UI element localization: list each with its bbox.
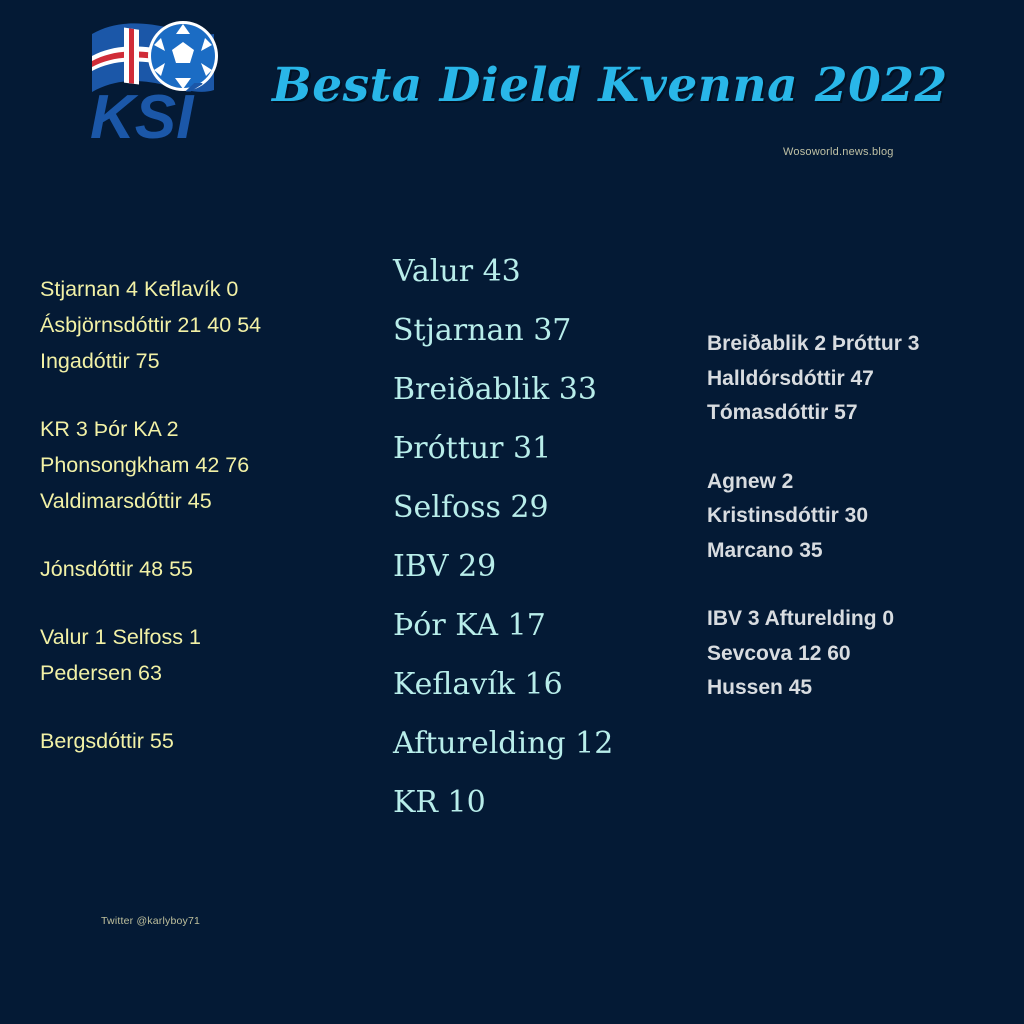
result-line: Tómasdóttir 57 (707, 396, 1007, 431)
result-line: Agnew 2 (707, 465, 1007, 500)
result-line: Valur 1 Selfoss 1 (40, 619, 360, 655)
result-line: Ingadóttir 75 (40, 343, 360, 379)
result-block: Agnew 2 Kristinsdóttir 30 Marcano 35 (707, 465, 1007, 569)
result-line: Kristinsdóttir 30 (707, 499, 1007, 534)
result-line: Bergsdóttir 55 (40, 723, 360, 759)
twitter-credit: Twitter @karlyboy71 (101, 915, 200, 927)
standings-column: Valur 43 Stjarnan 37 Breiðablik 33 Þrótt… (393, 242, 683, 832)
results-column-left: Stjarnan 4 Keflavík 0 Ásbjörnsdóttir 21 … (40, 271, 360, 759)
standings-row: Þróttur 31 (393, 419, 683, 478)
standings-row: Valur 43 (393, 242, 683, 301)
result-line: IBV 3 Afturelding 0 (707, 602, 1007, 637)
result-line: Stjarnan 4 Keflavík 0 (40, 271, 360, 307)
standings-row: IBV 29 (393, 537, 683, 596)
result-line: Breiðablik 2 Þróttur 3 (707, 327, 1007, 362)
standings-row: Selfoss 29 (393, 478, 683, 537)
scoreboard: Stjarnan 4 Keflavík 0 Ásbjörnsdóttir 21 … (0, 0, 1024, 1024)
result-line: KR 3 Þór KA 2 (40, 411, 360, 447)
result-line: Pedersen 63 (40, 655, 360, 691)
result-line: Sevcova 12 60 (707, 637, 1007, 672)
result-line: Jónsdóttir 48 55 (40, 551, 360, 587)
standings-row: KR 10 (393, 773, 683, 832)
result-line: Hussen 45 (707, 671, 1007, 706)
standings-row: Þór KA 17 (393, 596, 683, 655)
result-line: Halldórsdóttir 47 (707, 362, 1007, 397)
standings-row: Stjarnan 37 (393, 301, 683, 360)
result-block: Jónsdóttir 48 55 (40, 551, 360, 587)
result-line: Phonsongkham 42 76 (40, 447, 360, 483)
result-line: Marcano 35 (707, 534, 1007, 569)
standings-row: Keflavík 16 (393, 655, 683, 714)
result-line: Ásbjörnsdóttir 21 40 54 (40, 307, 360, 343)
result-block: KR 3 Þór KA 2 Phonsongkham 42 76 Valdima… (40, 411, 360, 519)
standings-row: Afturelding 12 (393, 714, 683, 773)
result-block: Valur 1 Selfoss 1 Pedersen 63 (40, 619, 360, 691)
result-block: Stjarnan 4 Keflavík 0 Ásbjörnsdóttir 21 … (40, 271, 360, 379)
result-block: Bergsdóttir 55 (40, 723, 360, 759)
standings-row: Breiðablik 33 (393, 360, 683, 419)
result-line: Valdimarsdóttir 45 (40, 483, 360, 519)
results-column-right: Breiðablik 2 Þróttur 3 Halldórsdóttir 47… (707, 327, 1007, 706)
result-block: Breiðablik 2 Þróttur 3 Halldórsdóttir 47… (707, 327, 1007, 431)
result-block: IBV 3 Afturelding 0 Sevcova 12 60 Hussen… (707, 602, 1007, 706)
